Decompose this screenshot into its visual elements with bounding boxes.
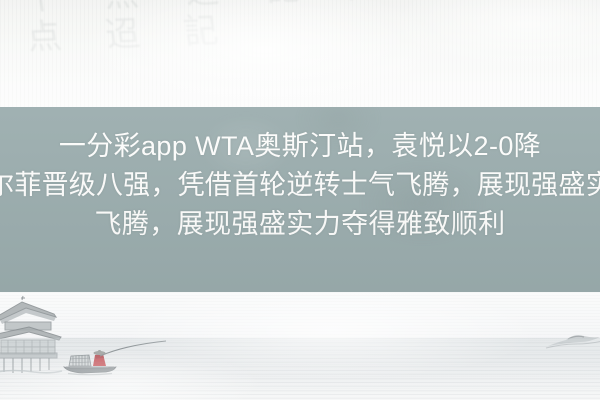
- distant-shore-illustration: [546, 328, 600, 354]
- caption-line-2: 尔菲晋级八强，凭借首轮逆转士气飞腾，展现强盛实: [0, 166, 600, 205]
- caption-plate: 一分彩app WTA奥斯汀站，袁悦以2-0降 尔菲晋级八强，凭借首轮逆转士气飞腾…: [0, 107, 600, 293]
- fishing-pole-illustration: [100, 340, 168, 362]
- news-banner-image: 点 如 遙 之 弟 妹 点 千 記 之 為 如 逆 点 為 千 記 如 点 之 …: [0, 0, 600, 400]
- calligraphy-ink-layer-extra: 遙 千 点 之 記 如 為 妹 逆 点 迢 記: [0, 0, 592, 108]
- caption-text-block: 一分彩app WTA奥斯汀站，袁悦以2-0降 尔菲晋级八强，凭借首轮逆转士气飞腾…: [0, 127, 600, 244]
- caption-line-3: 飞腾，展现强盛实力夺得雅致顺利: [0, 205, 600, 244]
- caption-line-1: 一分彩app WTA奥斯汀站，袁悦以2-0降: [0, 127, 600, 166]
- lakeside-pavilion-illustration: [0, 294, 62, 380]
- mist-overlay: [0, 292, 600, 400]
- calligraphy-paper-band: 点 如 遙 之 弟 妹 点 千 記 之 為 如 逆 点 為 千 記 如 点 之 …: [0, 0, 600, 108]
- ink-wash-lake-scene: [0, 292, 600, 400]
